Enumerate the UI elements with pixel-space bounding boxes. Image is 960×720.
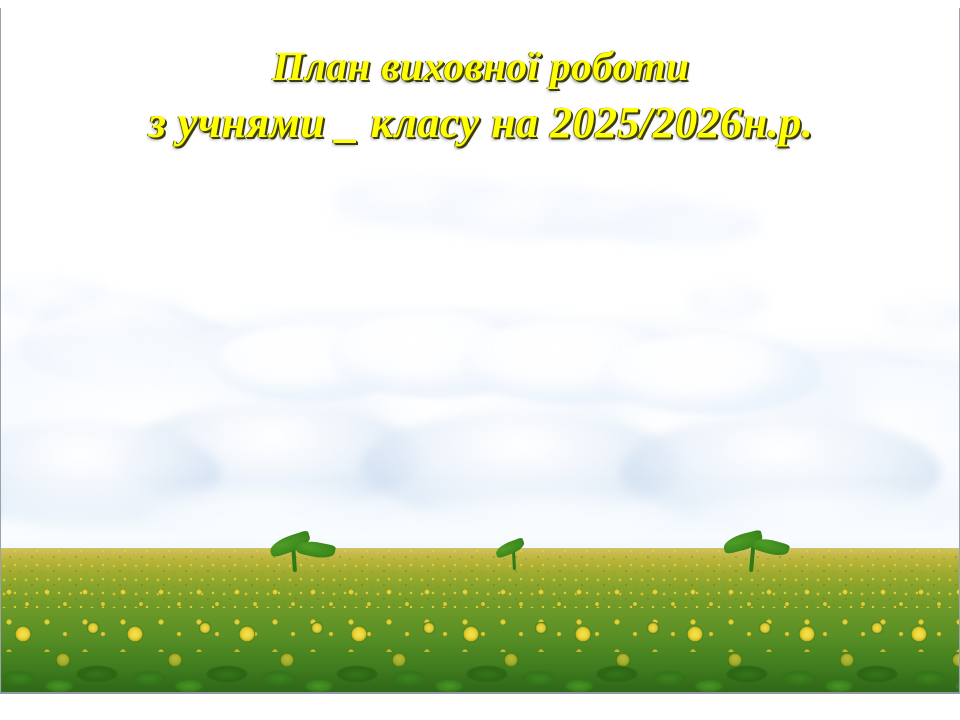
horizon-haze <box>1 478 959 558</box>
sunflower-field <box>1 548 959 694</box>
slide-background-photo: План виховної роботи з учнями _ класу на… <box>0 8 960 694</box>
field-leaf-layer <box>1 638 959 694</box>
presentation-slide: План виховної роботи з учнями _ класу на… <box>0 0 960 720</box>
